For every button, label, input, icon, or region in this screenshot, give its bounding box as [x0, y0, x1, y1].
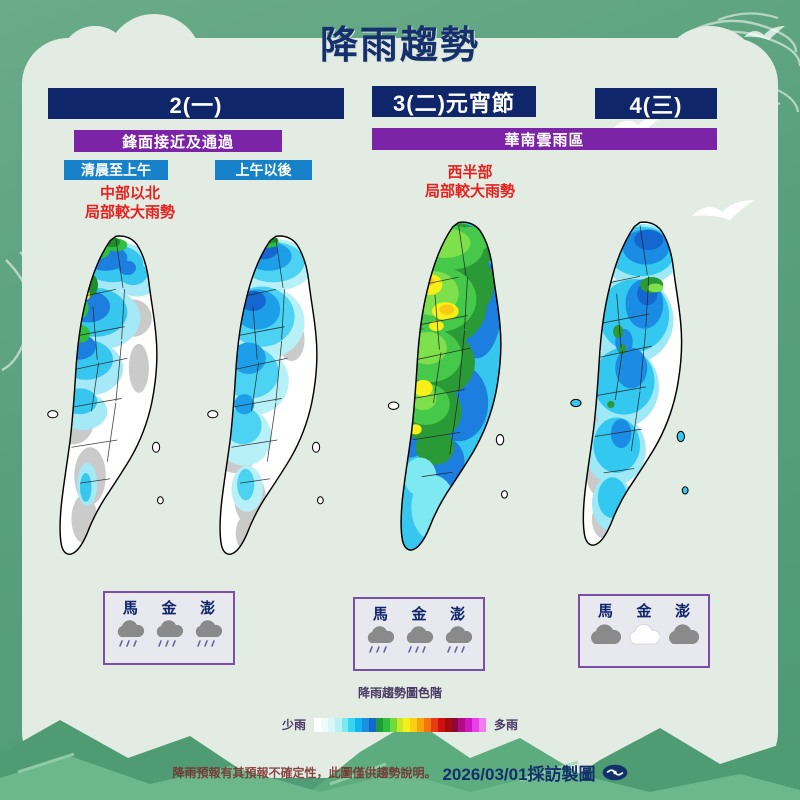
legend-swatch [362, 718, 369, 732]
legend-high-label: 多雨 [494, 716, 518, 733]
legend-swatch [335, 718, 342, 732]
island-label-ma: 馬 [373, 603, 388, 624]
island-label-row: 馬 金 澎 [111, 597, 227, 618]
weather-system-bar-1: 華南雲雨區 [372, 128, 717, 150]
map-day2-afternoon [188, 232, 348, 562]
island-label-ma: 馬 [598, 600, 613, 621]
footer-disclaimer: 降雨預報有其預報不確定性，此圖僅供趨勢說明。 [172, 764, 436, 781]
legend-swatch [403, 718, 410, 732]
legend-title: 降雨趨勢圖色階 [0, 684, 800, 701]
legend-swatch [472, 718, 479, 732]
island-label-jin: 金 [411, 603, 426, 624]
time-chip-morning: 清晨至上午 [64, 160, 168, 180]
legend-swatch [417, 718, 424, 732]
footer: 降雨預報有其預報不確定性，此圖僅供趨勢說明。 2026/03/01採訪製圖 [0, 760, 800, 785]
page-title: 降雨趨勢 [0, 14, 800, 69]
legend-swatch [410, 718, 417, 732]
day-header-bar-0: 2(一) [48, 88, 344, 119]
map-day4 [552, 218, 712, 553]
infographic-root: 降雨趨勢 2(一) 3(二)元宵節 4(三) 鋒面接近及通過 華南雲雨區 清晨至… [0, 0, 800, 800]
rain-cloud-icon [114, 619, 146, 649]
time-chip-afternoon: 上午以後 [215, 160, 312, 180]
legend-swatch [328, 718, 335, 732]
legend-swatch [348, 718, 355, 732]
map-day2-morning [28, 232, 188, 562]
legend-swatch [342, 718, 349, 732]
legend-swatch [314, 718, 321, 732]
legend-swatch [390, 718, 397, 732]
weather-system-bar-0: 鋒面接近及通過 [74, 130, 282, 152]
legend-swatch [321, 718, 328, 732]
island-label-peng: 澎 [675, 600, 690, 621]
legend-swatch [383, 718, 390, 732]
legend-swatch [431, 718, 438, 732]
island-forecast-box-1: 馬 金 澎 [353, 597, 485, 671]
legend-color-scale [314, 718, 486, 732]
island-label-row: 馬 金 澎 [586, 600, 702, 621]
rain-cloud-icon [442, 625, 474, 655]
legend-swatch [355, 718, 362, 732]
gray-cloud-icon [589, 622, 621, 652]
island-label-row: 馬 金 澎 [361, 603, 477, 624]
island-icon-row [111, 619, 227, 649]
legend-swatch [445, 718, 452, 732]
legend-swatch [376, 718, 383, 732]
broadcaster-logo-icon [602, 764, 628, 781]
legend-swatch [397, 718, 404, 732]
day-header-bar-1: 3(二)元宵節 [372, 86, 536, 117]
island-label-peng: 澎 [450, 603, 465, 624]
legend-swatch [452, 718, 459, 732]
island-forecast-box-2: 馬 金 澎 [578, 594, 710, 668]
legend-swatch [438, 718, 445, 732]
legend-swatch [369, 718, 376, 732]
island-label-peng: 澎 [200, 597, 215, 618]
island-label-ma: 馬 [123, 597, 138, 618]
rain-cloud-icon [153, 619, 185, 649]
rain-note-0: 中部以北 局部較大雨勢 [30, 184, 230, 222]
legend-swatch [458, 718, 465, 732]
map-day3 [368, 218, 533, 558]
legend-swatch [465, 718, 472, 732]
white-cloud-icon [628, 622, 660, 652]
island-label-jin: 金 [161, 597, 176, 618]
day-header-bar-2: 4(三) [595, 88, 717, 119]
legend-low-label: 少雨 [282, 716, 306, 733]
rain-cloud-icon [403, 625, 435, 655]
legend-row: 少雨 多雨 [0, 716, 800, 733]
rain-cloud-icon [364, 625, 396, 655]
rain-cloud-icon [192, 619, 224, 649]
legend-swatch [479, 718, 486, 732]
legend-swatch [424, 718, 431, 732]
gray-cloud-icon [667, 622, 699, 652]
island-icon-row [586, 622, 702, 652]
rain-note-1: 西半部 局部較大雨勢 [380, 163, 560, 201]
island-forecast-box-0: 馬 金 澎 [103, 591, 235, 665]
island-label-jin: 金 [636, 600, 651, 621]
island-icon-row [361, 625, 477, 655]
footer-date-credit: 2026/03/01採訪製圖 [442, 760, 595, 785]
